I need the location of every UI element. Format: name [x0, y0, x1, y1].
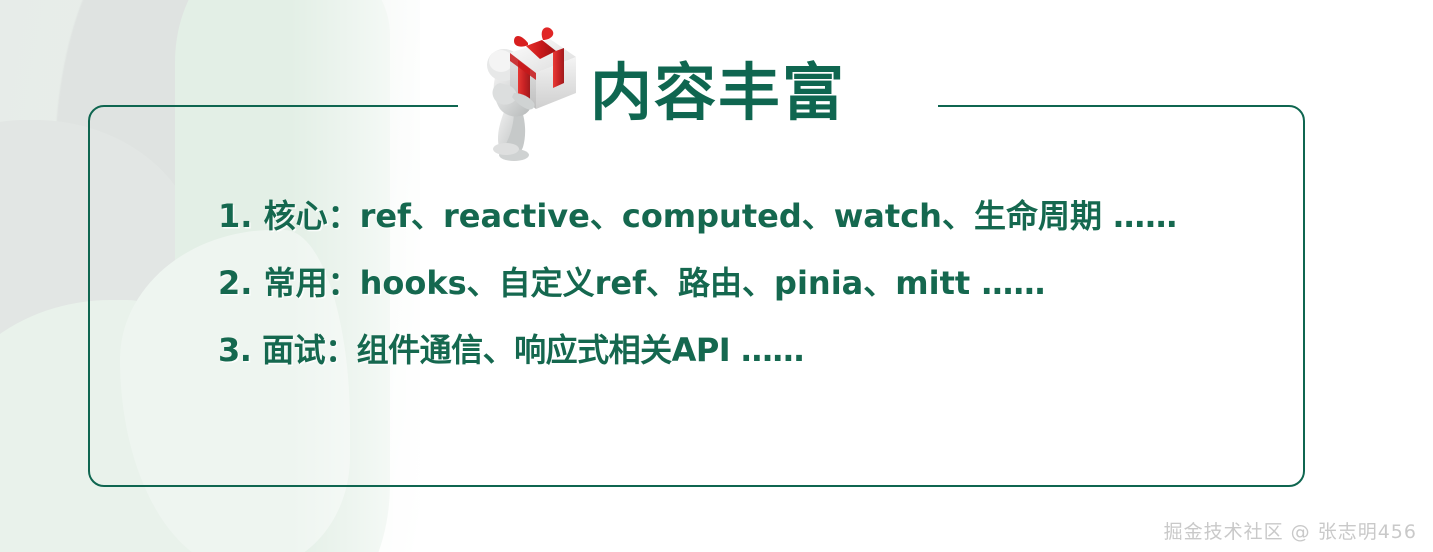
- list-item: 1. 核心：ref、reactive、computed、watch、生命周期 ……: [218, 200, 1278, 232]
- content-list: 1. 核心：ref、reactive、computed、watch、生命周期 ……: [218, 200, 1278, 366]
- slide-header: 内容丰富: [470, 18, 846, 168]
- gift-box-carrier-icon: [470, 23, 580, 163]
- slide-canvas: 内容丰富 1. 核心：ref、reactive、computed、watch、生…: [0, 0, 1433, 552]
- page-title: 内容丰富: [590, 62, 846, 124]
- list-item: 2. 常用：hooks、自定义ref、路由、pinia、mitt ……: [218, 267, 1278, 299]
- list-item: 3. 面试：组件通信、响应式相关API ……: [218, 334, 1278, 366]
- watermark: 掘金技术社区 @ 张志明456: [1164, 517, 1417, 544]
